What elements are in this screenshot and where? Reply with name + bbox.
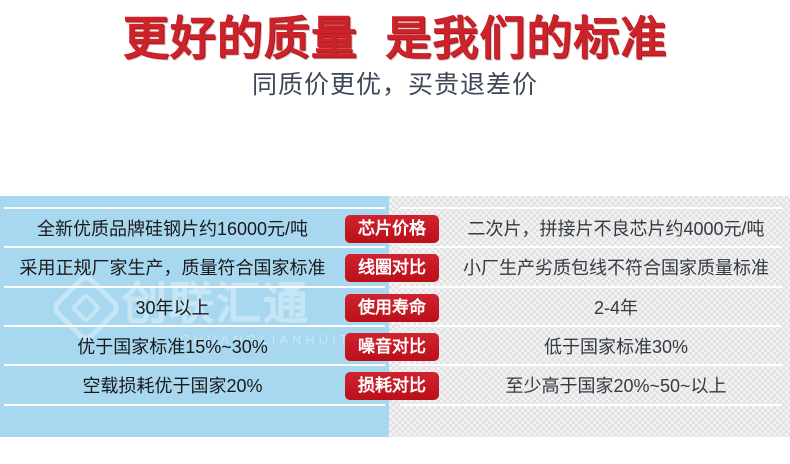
comparison-right-value: 低于国家标准30%: [448, 328, 784, 366]
row-separator-left: [4, 404, 385, 406]
comparison-left-value: 优于国家标准15%~30%: [6, 328, 339, 366]
comparison-left-value: 全新优质品牌硅钢片约16000元/吨: [6, 210, 339, 248]
row-separator-right: [400, 207, 782, 209]
comparison-category-label: 线圈对比: [345, 254, 439, 282]
header-banner: 更好的质量 是我们的标准 同质价更优，买贵退差价: [0, 0, 790, 112]
table-row: 优于国家标准15%~30%噪音对比低于国家标准30%: [0, 328, 790, 366]
table-row: 采用正规厂家生产，质量符合国家标准线圈对比小厂生产劣质包线不符合国家质量标准: [0, 249, 790, 287]
row-separator-left: [4, 286, 385, 288]
comparison-right-value: 至少高于国家20%~50~以上: [448, 367, 784, 405]
comparison-category-label: 损耗对比: [345, 372, 439, 400]
row-separator-right: [400, 246, 782, 248]
row-separator-left: [4, 246, 385, 248]
versus-row: 创联汇通及国际品牌企业 VS 小规模或小作坊生产企业: [0, 112, 790, 196]
comparison-right-value: 2-4年: [448, 289, 784, 327]
row-separator-left: [4, 325, 385, 327]
comparison-category-label: 芯片价格: [345, 215, 439, 243]
comparison-left-value: 采用正规厂家生产，质量符合国家标准: [6, 249, 339, 287]
row-separator-right: [400, 364, 782, 366]
comparison-right-value: 二次片，拼接片不良芯片约4000元/吨: [448, 210, 784, 248]
comparison-category-label: 使用寿命: [345, 294, 439, 322]
table-row: 全新优质品牌硅钢片约16000元/吨芯片价格二次片，拼接片不良芯片约4000元/…: [0, 210, 790, 248]
comparison-left-value: 空载损耗优于国家20%: [6, 367, 339, 405]
table-row: 空载损耗优于国家20%损耗对比至少高于国家20%~50~以上: [0, 367, 790, 405]
page-title: 更好的质量 是我们的标准: [0, 12, 790, 64]
page-subtitle: 同质价更优，买贵退差价: [0, 70, 790, 100]
row-separator-left: [4, 364, 385, 366]
comparison-right-value: 小厂生产劣质包线不符合国家质量标准: [448, 249, 784, 287]
row-separator-right: [400, 325, 782, 327]
comparison-left-value: 30年以上: [6, 289, 339, 327]
comparison-category-label: 噪音对比: [345, 333, 439, 361]
row-separator-left: [4, 207, 385, 209]
row-separator-right: [400, 286, 782, 288]
row-separator-right: [400, 404, 782, 406]
table-row: 30年以上使用寿命2-4年: [0, 289, 790, 327]
